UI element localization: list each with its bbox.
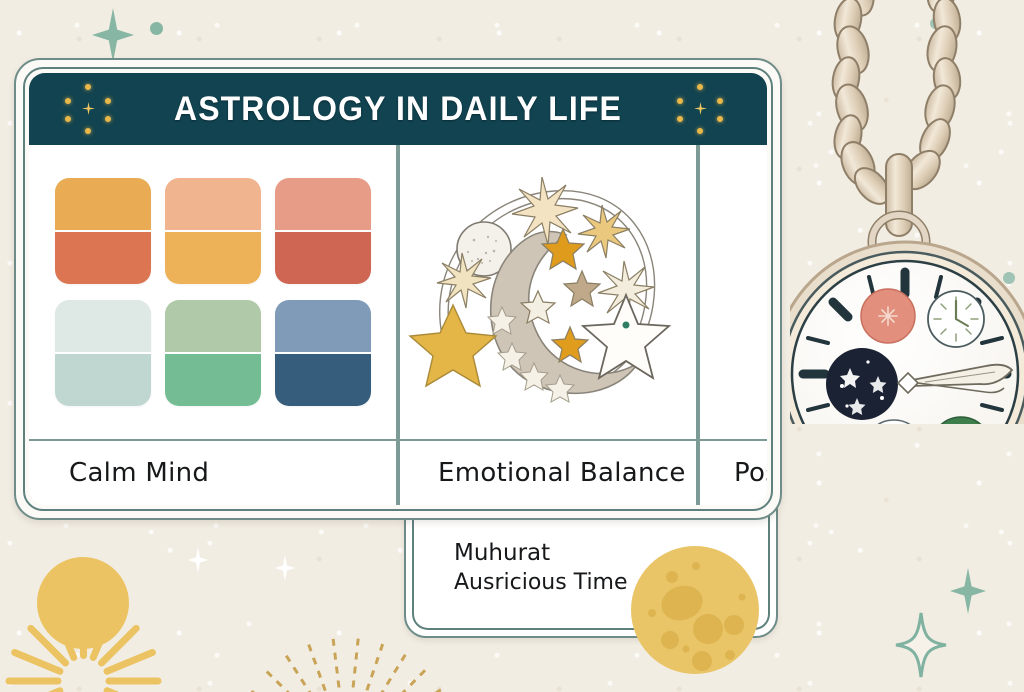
subdial-salmon-sun [861,289,915,343]
swatch-amber-terracotta[interactable] [55,178,151,284]
panel-label-calm-mind: Calm Mind [29,439,396,505]
color-palette-swatches [55,178,371,406]
large-white-star [583,295,669,378]
star-gold-lower [552,327,588,362]
swatch-peach-amber[interactable] [165,178,261,284]
muhurat-text-block: Muhurat Ausricious Time [454,538,628,597]
card-header: ASTROLOGY IN DAILY LIFE [29,73,767,145]
infographic-card: ASTROLOGY IN DAILY LIFE [14,58,782,520]
arc-starburst-right [578,205,630,258]
muhurat-title: Muhurat [454,538,628,568]
panel-calm-mind-visual [29,145,396,439]
panel-emotional-visual [398,145,698,439]
star-tan-right [564,271,600,306]
panel-calm-mind[interactable]: Calm Mind [29,145,396,505]
necklace-chain [790,0,1024,424]
crescent-moon-and-stars-illustration [398,167,698,417]
panel-label-emotional-balance: Emotional Balance [398,439,698,505]
swatch-steel-navy[interactable] [275,300,371,406]
golden-moon-decoration [630,545,760,675]
panel-positive-energy[interactable]: Positive Energy [700,145,767,505]
star-cluster-left [55,78,129,140]
page-title: ASTROLOGY IN DAILY LIFE [145,90,651,129]
muhurat-subtitle: Ausricious Time [454,568,628,597]
panel-label-positive-energy: Positive Energy [700,439,767,505]
pendant-clock-placeholder [700,145,767,439]
arc-starburst-top [512,177,578,245]
star-cluster-right [667,78,741,140]
subdial-night-sky [826,348,898,420]
swatch-sage-green[interactable] [165,300,261,406]
swatch-salmon-brick[interactable] [275,178,371,284]
panel-positive-visual [700,145,767,439]
subdial-clock-face [928,291,984,347]
card-inner: ASTROLOGY IN DAILY LIFE [29,73,767,505]
card-body: Calm Mind [29,145,767,505]
panel-emotional-balance[interactable]: Emotional Balance [396,145,700,505]
swatch-pale-mint[interactable] [55,300,151,406]
gold-flower-star [410,305,496,386]
